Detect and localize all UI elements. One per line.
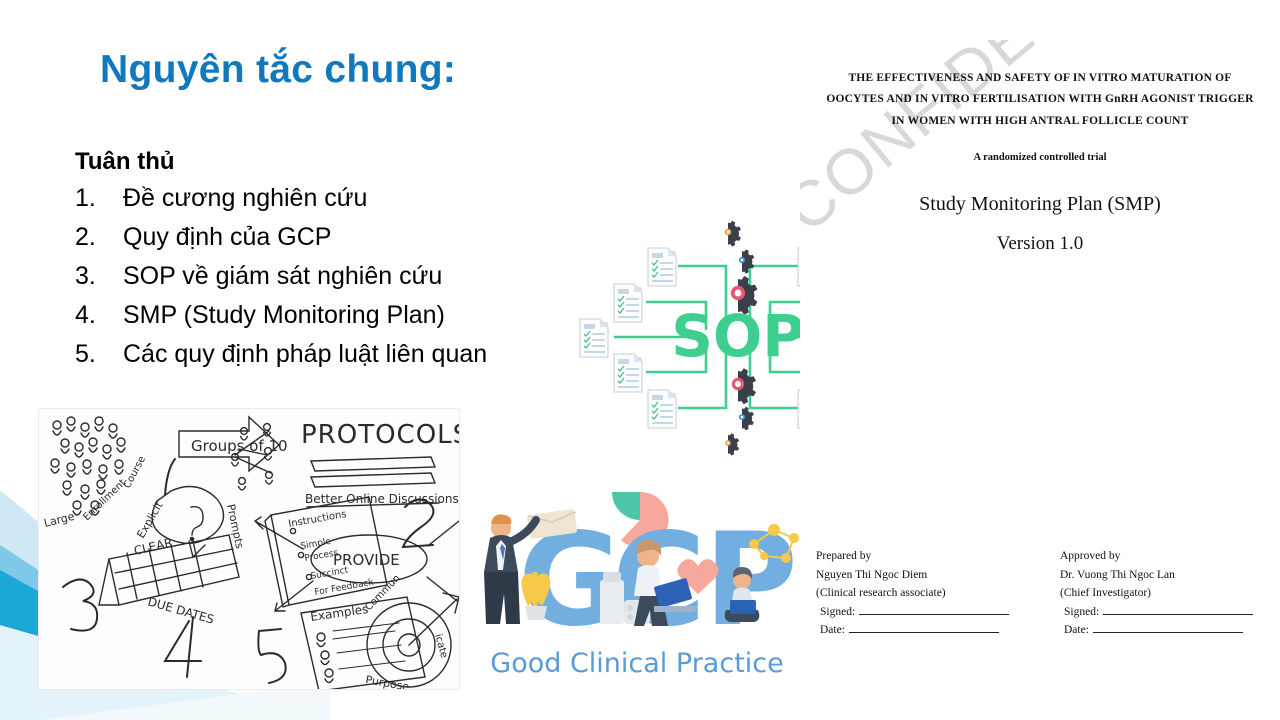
principles-list: 1. Đề cương nghiên cứu 2. Quy định của G… bbox=[75, 186, 487, 381]
gear-icon-orange bbox=[725, 433, 739, 455]
sketch-label: Prompts bbox=[224, 503, 246, 550]
list-item-label: Quy định của GCP bbox=[123, 225, 331, 250]
prepared-signed-row: Signed: bbox=[816, 603, 1036, 622]
date-line[interactable] bbox=[849, 621, 999, 633]
document-icon bbox=[614, 354, 642, 392]
document-icon bbox=[648, 248, 676, 286]
gcp-logo: G C P bbox=[472, 482, 802, 680]
list-item: 2. Quy định của GCP bbox=[75, 225, 487, 250]
document-plan-title: Study Monitoring Plan (SMP) bbox=[800, 193, 1280, 216]
signed-label: Signed: bbox=[820, 603, 859, 622]
list-item: 5. Các quy định pháp luật liên quan bbox=[75, 342, 487, 367]
signature-column-prepared: Prepared by Nguyen Thi Ngoc Diem (Clinic… bbox=[816, 547, 1036, 640]
prepared-by-position: (Clinical research associate) bbox=[816, 584, 1036, 603]
list-item-number: 3. bbox=[75, 264, 123, 289]
document-icon bbox=[580, 319, 608, 357]
approved-by-position: (Chief Investigator) bbox=[1060, 584, 1280, 603]
gcp-caption: Good Clinical Practice bbox=[490, 648, 783, 679]
sketch-label: Large bbox=[43, 510, 76, 530]
gear-icon-red bbox=[732, 368, 756, 404]
list-item: 3. SOP về giám sát nghiên cứu bbox=[75, 264, 487, 289]
smp-document: CONFIDENTIAL THE EFFECTIVENESS AND SAFET… bbox=[800, 40, 1280, 680]
list-item-number: 4. bbox=[75, 303, 123, 328]
sketch-label: DUE DATES bbox=[146, 594, 215, 626]
document-title: THE EFFECTIVENESS AND SAFETY OF IN VITRO… bbox=[822, 68, 1258, 132]
date-label: Date: bbox=[820, 621, 849, 640]
gear-icon-blue bbox=[739, 249, 754, 273]
sketch-label: Groups of 10 bbox=[191, 437, 288, 455]
sketch-label: Examples bbox=[309, 602, 369, 624]
prepared-by-label: Prepared by bbox=[816, 547, 1036, 566]
date-line[interactable] bbox=[1093, 621, 1243, 633]
approved-date-row: Date: bbox=[1060, 621, 1280, 640]
sketch-label: Purpose bbox=[364, 673, 410, 689]
list-item: 1. Đề cương nghiên cứu bbox=[75, 186, 487, 211]
gear-icon-blue bbox=[739, 407, 754, 431]
signature-block: Prepared by Nguyen Thi Ngoc Diem (Clinic… bbox=[800, 547, 1280, 640]
document-version: Version 1.0 bbox=[800, 233, 1280, 255]
date-label: Date: bbox=[1064, 621, 1093, 640]
document-title-line: IN WOMEN WITH HIGH ANTRAL FOLLICLE COUNT bbox=[822, 111, 1258, 132]
list-item-number: 2. bbox=[75, 225, 123, 250]
gear-icon-orange bbox=[725, 221, 741, 247]
list-item: 4. SMP (Study Monitoring Plan) bbox=[75, 303, 487, 328]
crowd-figures bbox=[51, 417, 125, 515]
signed-label: Signed: bbox=[1064, 603, 1103, 622]
sop-center-label: SOP bbox=[671, 302, 805, 370]
lead-heading: Tuân thủ bbox=[75, 148, 175, 176]
prepared-by-name: Nguyen Thi Ngoc Diem bbox=[816, 566, 1036, 585]
slide-canvas: Nguyên tắc chung: Tuân thủ 1. Đề cương n… bbox=[0, 0, 1280, 720]
page-title: Nguyên tắc chung: bbox=[100, 48, 456, 92]
sketch-label: PROTOCOLS bbox=[301, 420, 459, 450]
document-icon bbox=[648, 390, 676, 428]
prepared-date-row: Date: bbox=[816, 621, 1036, 640]
list-item-label: SOP về giám sát nghiên cứu bbox=[123, 264, 442, 289]
document-title-line: THE EFFECTIVENESS AND SAFETY OF IN VITRO… bbox=[822, 68, 1258, 89]
list-item-number: 5. bbox=[75, 342, 123, 367]
signature-line[interactable] bbox=[859, 603, 1009, 615]
list-item-label: Các quy định pháp luật liên quan bbox=[123, 342, 487, 367]
approved-signed-row: Signed: bbox=[1060, 603, 1280, 622]
signature-line[interactable] bbox=[1103, 603, 1253, 615]
sketch-label: CLEAR bbox=[133, 535, 174, 557]
gcp-illustration: G C P bbox=[472, 482, 802, 680]
document-icon bbox=[614, 284, 642, 322]
list-item-number: 1. bbox=[75, 186, 123, 211]
sketch-drawing: Large Enrollment Course Groups of 10 Exp… bbox=[39, 409, 459, 689]
list-item-label: SMP (Study Monitoring Plan) bbox=[123, 303, 445, 328]
sketch-label: Instructions bbox=[288, 509, 348, 530]
approved-by-name: Dr. Vuong Thi Ngoc Lan bbox=[1060, 566, 1280, 585]
signature-column-approved: Approved by Dr. Vuong Thi Ngoc Lan (Chie… bbox=[1060, 547, 1280, 640]
sketch-label: Course bbox=[122, 454, 148, 490]
approved-by-label: Approved by bbox=[1060, 547, 1280, 566]
sketch-label: Better Online Discussions bbox=[305, 492, 459, 506]
document-title-line: OOCYTES AND IN VITRO FERTILISATION WITH … bbox=[822, 89, 1258, 110]
handdrawn-sketch-image: Large Enrollment Course Groups of 10 Exp… bbox=[38, 408, 460, 690]
list-item-label: Đề cương nghiên cứu bbox=[123, 186, 367, 211]
document-subtitle: A randomized controlled trial bbox=[800, 152, 1280, 163]
